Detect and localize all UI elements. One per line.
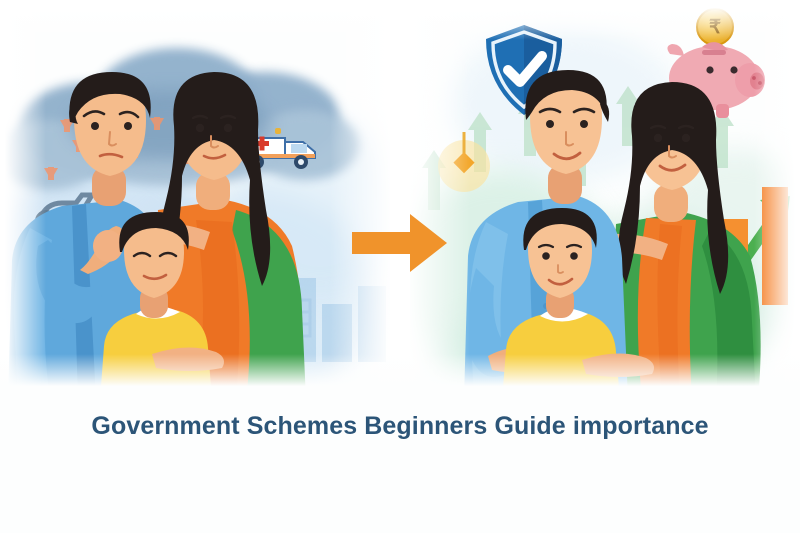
illustration-canvas: ₹ xyxy=(0,0,800,533)
page-title: Government Schemes Beginners Guide impor… xyxy=(0,412,800,441)
comparison-band: ₹ xyxy=(0,0,800,400)
right-family-group xyxy=(410,60,800,400)
right-arrow-icon xyxy=(352,212,448,274)
left-family-group xyxy=(0,60,390,400)
right-panel-after: ₹ xyxy=(410,0,800,400)
left-panel-before xyxy=(0,0,390,400)
